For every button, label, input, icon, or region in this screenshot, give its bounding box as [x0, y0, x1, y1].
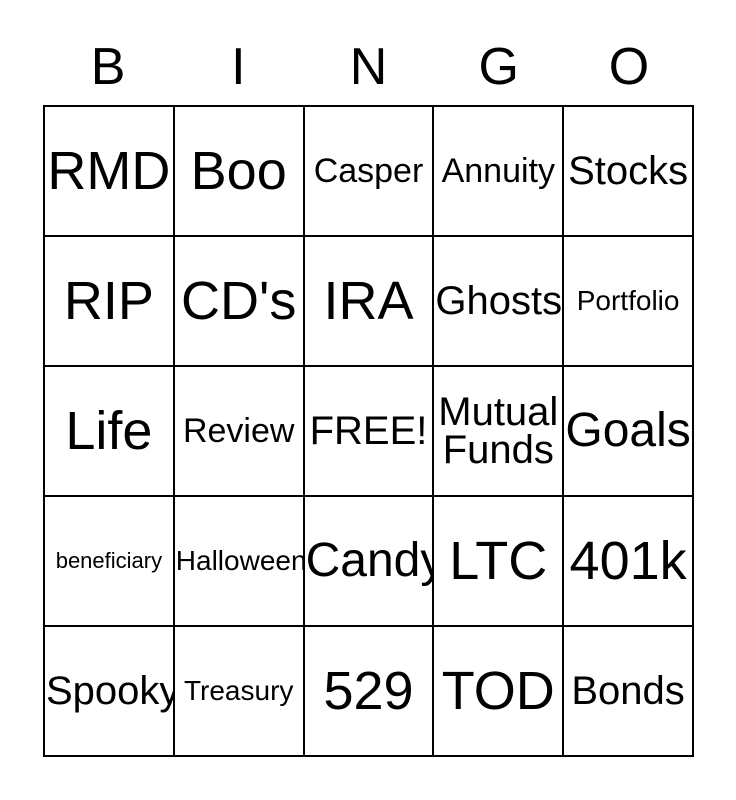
bingo-header-letter-i: I — [173, 41, 303, 93]
bingo-cell-i1[interactable]: Boo — [175, 107, 305, 237]
bingo-cell-label: Halloween — [175, 547, 303, 575]
bingo-cell-label: Review — [175, 414, 303, 448]
bingo-cell-o2[interactable]: Portfolio — [564, 237, 694, 367]
bingo-cell-label: beneficiary — [45, 550, 173, 572]
bingo-header-letter-b: B — [43, 41, 173, 93]
bingo-grid: RMD Boo Casper Annuity Stocks RIP CD's I… — [43, 105, 694, 757]
bingo-cell-o1[interactable]: Stocks — [564, 107, 694, 237]
bingo-cell-g3[interactable]: Mutual Funds — [434, 367, 564, 497]
bingo-cell-label: Portfolio — [564, 287, 692, 315]
bingo-cell-label: TOD — [434, 664, 562, 718]
bingo-cell-n1[interactable]: Casper — [305, 107, 435, 237]
bingo-cell-label: Stocks — [564, 151, 692, 191]
bingo-header-row: B I N G O — [43, 28, 694, 105]
bingo-cell-g5[interactable]: TOD — [434, 627, 564, 757]
bingo-card: B I N G O RMD Boo Casper Annuity Stocks … — [0, 0, 736, 800]
bingo-cell-label: CD's — [175, 274, 303, 328]
bingo-cell-o5[interactable]: Bonds — [564, 627, 694, 757]
bingo-cell-g4[interactable]: LTC — [434, 497, 564, 627]
bingo-cell-label: Life — [45, 404, 173, 458]
bingo-cell-i5[interactable]: Treasury — [175, 627, 305, 757]
bingo-cell-b2[interactable]: RIP — [45, 237, 175, 367]
bingo-cell-b3[interactable]: Life — [45, 367, 175, 497]
bingo-cell-label: Casper — [305, 154, 433, 188]
bingo-cell-label: 401k — [564, 534, 692, 588]
bingo-header-letter-o: O — [564, 41, 694, 93]
bingo-cell-i4[interactable]: Halloween — [175, 497, 305, 627]
bingo-cell-n5[interactable]: 529 — [305, 627, 435, 757]
bingo-cell-b1[interactable]: RMD — [45, 107, 175, 237]
bingo-free-space-label: FREE! — [305, 411, 433, 451]
bingo-cell-o3[interactable]: Goals — [564, 367, 694, 497]
bingo-cell-n2[interactable]: IRA — [305, 237, 435, 367]
bingo-cell-b5[interactable]: Spooky — [45, 627, 175, 757]
bingo-cell-i3[interactable]: Review — [175, 367, 305, 497]
bingo-cell-label: Candy — [305, 537, 433, 585]
bingo-cell-label: RIP — [45, 274, 173, 328]
bingo-header-letter-g: G — [434, 41, 564, 93]
bingo-cell-label: IRA — [305, 274, 433, 328]
bingo-cell-label: Spooky — [45, 671, 173, 711]
bingo-cell-label: LTC — [434, 534, 562, 588]
bingo-header-letter-n: N — [303, 41, 433, 93]
bingo-cell-label: Boo — [175, 144, 303, 198]
bingo-cell-o4[interactable]: 401k — [564, 497, 694, 627]
bingo-cell-i2[interactable]: CD's — [175, 237, 305, 367]
bingo-cell-label: Ghosts — [434, 281, 562, 321]
bingo-cell-label: 529 — [305, 664, 433, 718]
bingo-cell-b4[interactable]: beneficiary — [45, 497, 175, 627]
bingo-cell-n4[interactable]: Candy — [305, 497, 435, 627]
bingo-cell-label: Goals — [564, 407, 692, 455]
bingo-cell-g2[interactable]: Ghosts — [434, 237, 564, 367]
bingo-cell-g1[interactable]: Annuity — [434, 107, 564, 237]
bingo-cell-free-space[interactable]: FREE! — [305, 367, 435, 497]
bingo-cell-label: Bonds — [564, 671, 692, 711]
bingo-cell-label: Mutual Funds — [434, 393, 562, 470]
bingo-cell-label: Annuity — [434, 154, 562, 188]
bingo-cell-label: Treasury — [175, 677, 303, 705]
bingo-cell-label: RMD — [45, 144, 173, 198]
